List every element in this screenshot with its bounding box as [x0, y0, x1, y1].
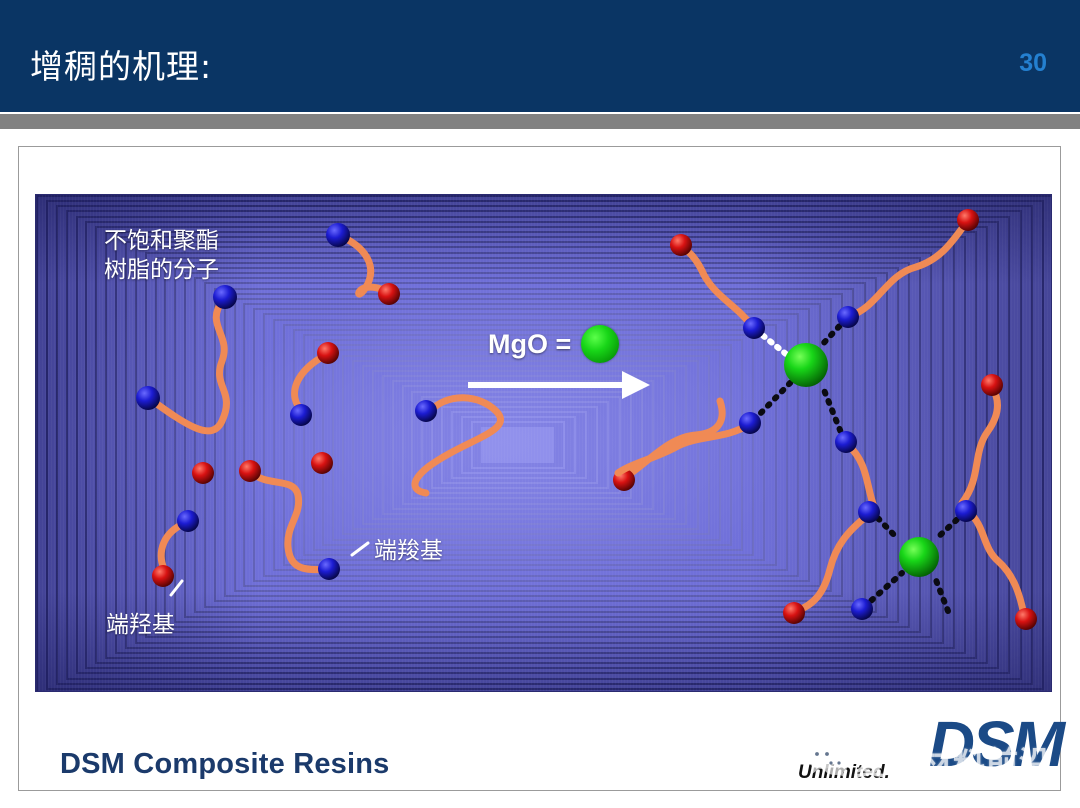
page-title: 增稠的机理:: [30, 40, 212, 88]
label-unsaturated-polyester-resin: 不饱和聚酯 树脂的分子: [104, 227, 219, 285]
crosslinked-chains: [618, 223, 1024, 615]
reaction-arrow: [468, 371, 650, 399]
header-divider-band: [0, 114, 1080, 129]
crosslink-end-groups: [670, 209, 1037, 630]
thickening-mechanism-diagram: 不饱和聚酯 树脂的分子 端羧基 端羟基 MgO =: [35, 194, 1052, 692]
slide-header: 增稠的机理: 30: [0, 0, 1080, 112]
slide: 增稠的机理: 30: [0, 0, 1080, 808]
dsm-tagline: Unlimited.: [798, 762, 890, 784]
page-number: 30: [1019, 49, 1047, 78]
mgo-legend: MgO =: [488, 325, 619, 363]
mgo-legend-sphere-icon: [581, 325, 619, 363]
dsm-wordmark: DSM: [929, 712, 1062, 776]
footer-title: DSM Composite Resins: [60, 748, 390, 781]
label-terminal-hydroxyl: 端羟基: [106, 611, 175, 640]
label-terminal-carboxyl: 端羧基: [374, 537, 443, 566]
dsm-logo: DSM Unlimited. 复合材料前沿: [798, 712, 1062, 790]
polymer-chains: [150, 236, 722, 573]
mgo-legend-label: MgO =: [488, 329, 571, 360]
